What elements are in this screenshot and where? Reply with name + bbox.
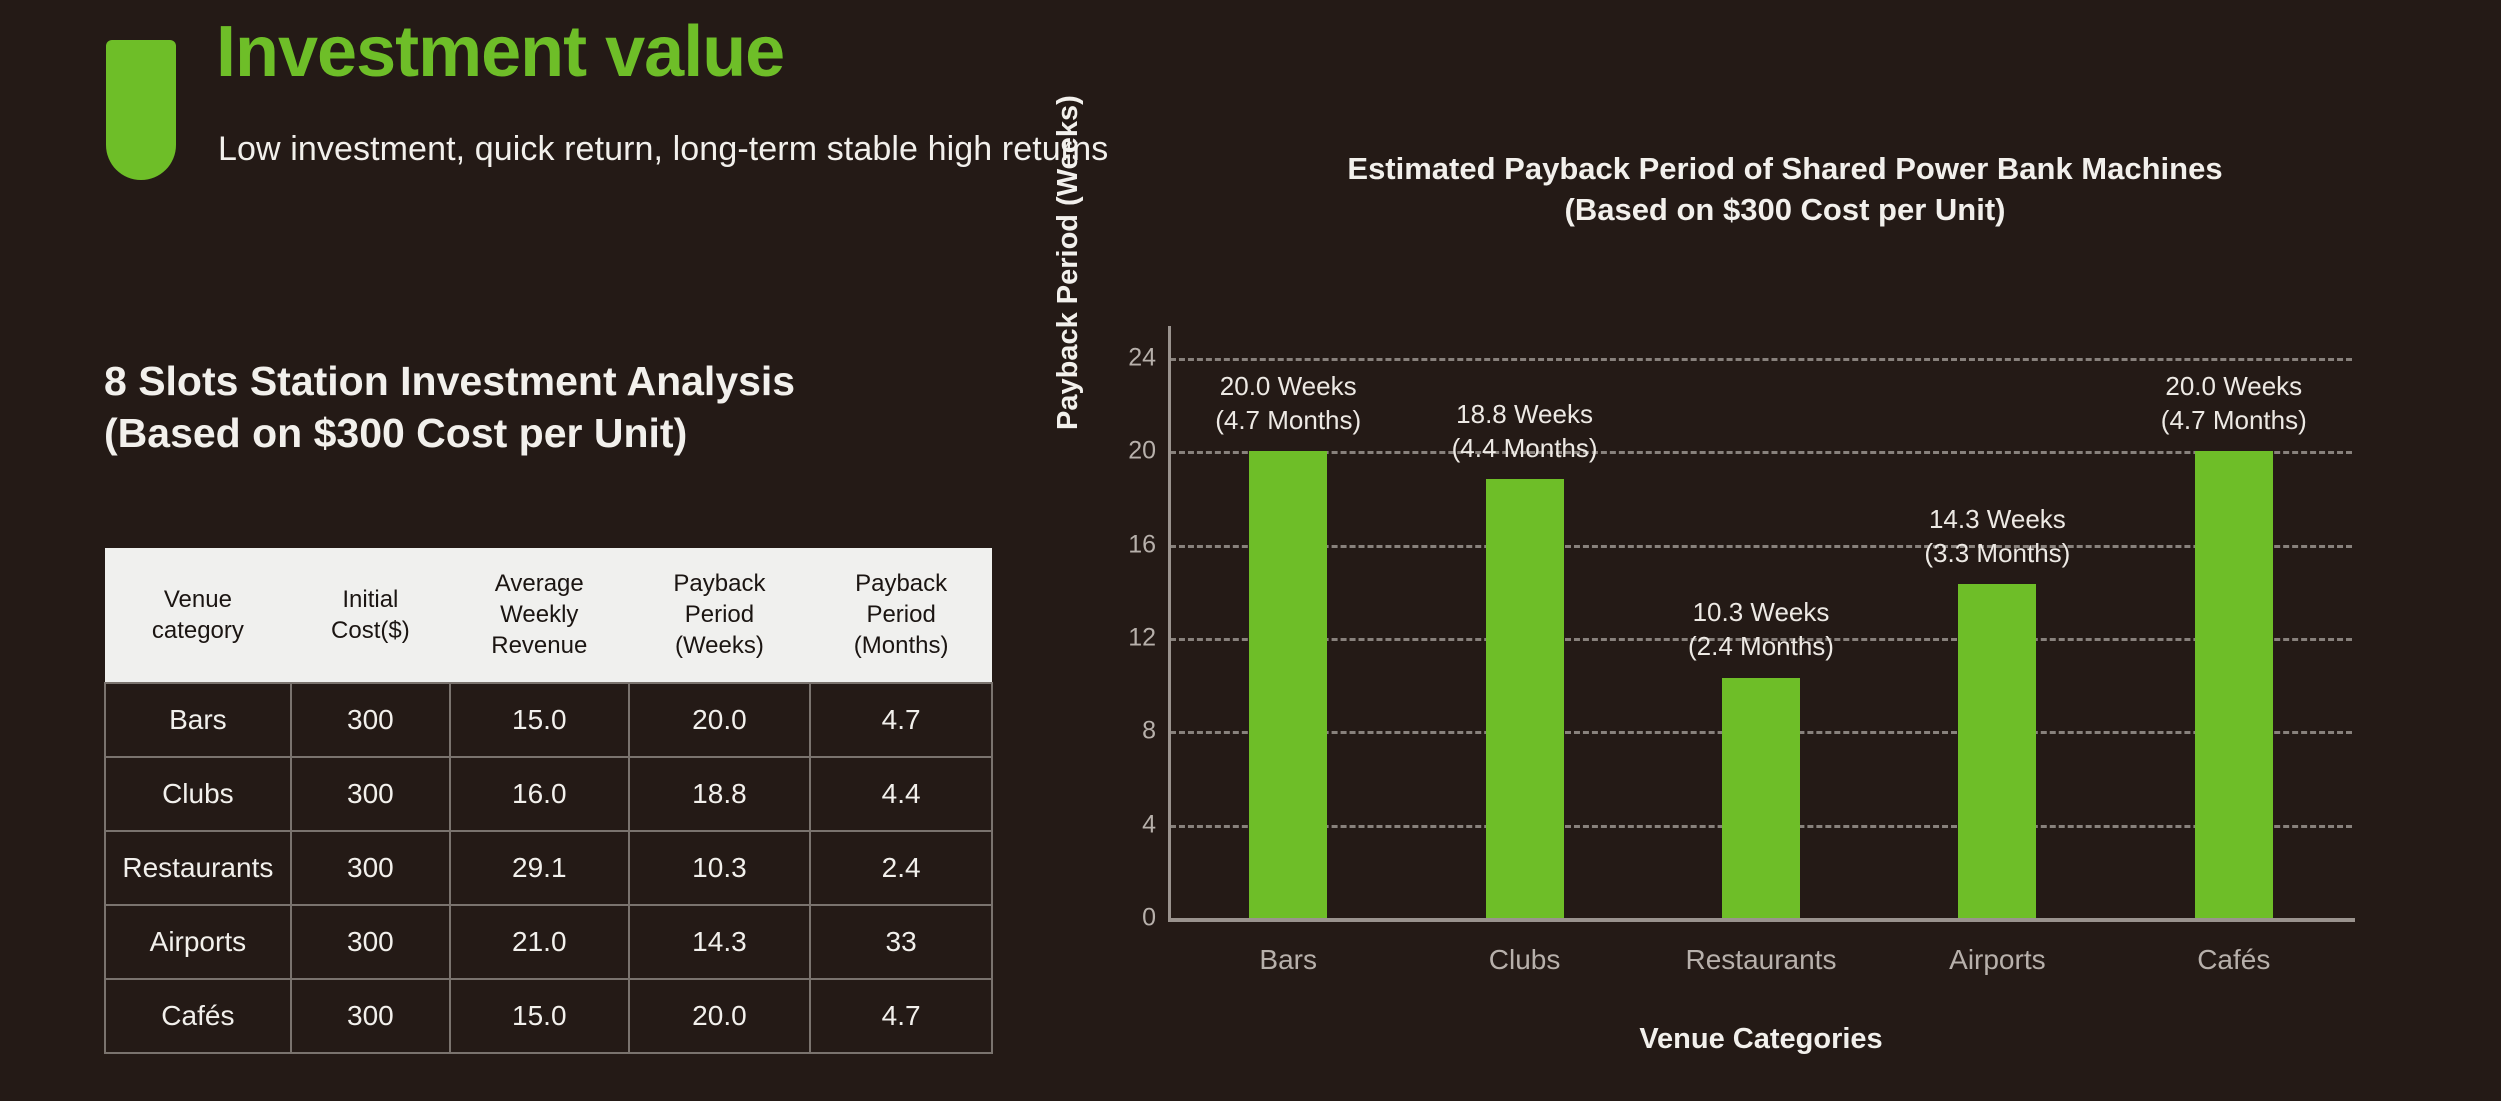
- y-axis-title: Payback Period (Weeks): [1052, 95, 1085, 430]
- table-body: Bars 300 15.0 20.0 4.7 Clubs 300 16.0 18…: [105, 683, 992, 1053]
- bar-group: 18.8 Weeks(4.4 Months)Clubs: [1406, 358, 1642, 918]
- x-axis-title: Venue Categories: [1170, 1023, 2352, 1056]
- cell-payback-weeks: 10.3: [629, 831, 811, 905]
- cell-initial-cost: 300: [291, 831, 450, 905]
- table-row: Cafés 300 15.0 20.0 4.7: [105, 979, 992, 1053]
- table-row: Clubs 300 16.0 18.8 4.4: [105, 757, 992, 831]
- cell-payback-months: 4.7: [810, 683, 992, 757]
- column-header-venue-category: Venue category: [105, 548, 291, 683]
- bar-weeks-label: 20.0 Weeks: [1215, 369, 1361, 403]
- bar-clubs[interactable]: [1486, 479, 1564, 918]
- cell-venue: Bars: [105, 683, 291, 757]
- bar-months-label: (4.7 Months): [1215, 403, 1361, 437]
- cell-venue: Restaurants: [105, 831, 291, 905]
- table-heading: 8 Slots Station Investment Analysis (Bas…: [104, 355, 1004, 460]
- bar-months-label: (3.3 Months): [1924, 536, 2070, 570]
- table-heading-line1: 8 Slots Station Investment Analysis: [104, 358, 795, 404]
- bar-group: 20.0 Weeks(4.7 Months)Bars: [1170, 358, 1406, 918]
- column-header-average-weekly-revenue: Average Weekly Revenue: [450, 548, 629, 683]
- infographic-page: Investment value Low investment, quick r…: [0, 0, 2501, 1101]
- header-line: Payback: [673, 570, 765, 597]
- bar-cafés[interactable]: [2195, 451, 2273, 918]
- bar-group: 10.3 Weeks(2.4 Months)Restaurants: [1643, 358, 1879, 918]
- cell-payback-weeks: 14.3: [629, 905, 811, 979]
- plot-area: 04812162024 20.0 Weeks(4.7 Months)Bars18…: [1170, 358, 2352, 918]
- bar-value-label: 20.0 Weeks(4.7 Months): [2161, 369, 2307, 438]
- bar-group: 14.3 Weeks(3.3 Months)Airports: [1879, 358, 2115, 918]
- cell-venue: Clubs: [105, 757, 291, 831]
- y-tick-label: 8: [1086, 717, 1156, 746]
- cell-payback-months: 4.7: [810, 979, 992, 1053]
- y-tick-label: 0: [1086, 904, 1156, 933]
- table-header-row: Venue category Initial Cost($) Average W…: [105, 548, 992, 683]
- cell-initial-cost: 300: [291, 683, 450, 757]
- bar-weeks-label: 18.8 Weeks: [1452, 397, 1598, 431]
- x-tick-label-bars: Bars: [1259, 944, 1317, 976]
- x-tick-label-clubs: Clubs: [1489, 944, 1561, 976]
- rounded-bar-logo-icon: [106, 40, 176, 180]
- table-row: Airports 300 21.0 14.3 33: [105, 905, 992, 979]
- cell-payback-weeks: 20.0: [629, 683, 811, 757]
- cell-weekly-revenue: 15.0: [450, 979, 629, 1053]
- x-axis-line: [1168, 918, 2355, 922]
- cell-initial-cost: 300: [291, 905, 450, 979]
- cell-payback-months: 33: [810, 905, 992, 979]
- x-tick-label-cafés: Cafés: [2197, 944, 2270, 976]
- bar-value-label: 14.3 Weeks(3.3 Months): [1924, 502, 2070, 571]
- y-tick-label: 12: [1086, 624, 1156, 653]
- cell-weekly-revenue: 15.0: [450, 683, 629, 757]
- y-tick-label: 20: [1086, 437, 1156, 466]
- chart-panel: Estimated Payback Period of Shared Power…: [1060, 0, 2501, 1101]
- cell-weekly-revenue: 21.0: [450, 905, 629, 979]
- header-line: Period: [866, 601, 935, 628]
- header-line: Average: [495, 570, 584, 597]
- column-header-payback-weeks: Payback Period (Weeks): [629, 548, 811, 683]
- y-tick-label: 4: [1086, 810, 1156, 839]
- y-tick-label: 24: [1086, 344, 1156, 373]
- cell-venue: Airports: [105, 905, 291, 979]
- header-line: Revenue: [491, 632, 587, 659]
- investment-analysis-table: Venue category Initial Cost($) Average W…: [104, 548, 993, 1054]
- cell-venue: Cafés: [105, 979, 291, 1053]
- cell-initial-cost: 300: [291, 979, 450, 1053]
- header-line: (Weeks): [675, 632, 764, 659]
- header-line: Payback: [855, 570, 947, 597]
- bar-value-label: 20.0 Weeks(4.7 Months): [1215, 369, 1361, 438]
- cell-weekly-revenue: 16.0: [450, 757, 629, 831]
- bar-weeks-label: 10.3 Weeks: [1688, 595, 1834, 629]
- table-row: Bars 300 15.0 20.0 4.7: [105, 683, 992, 757]
- header-line: Weekly: [500, 601, 578, 628]
- bar-value-label: 10.3 Weeks(2.4 Months): [1688, 595, 1834, 664]
- column-header-initial-cost: Initial Cost($): [291, 548, 450, 683]
- bar-bars[interactable]: [1249, 451, 1327, 918]
- chart-title: Estimated Payback Period of Shared Power…: [1120, 148, 2450, 230]
- bar-group: 20.0 Weeks(4.7 Months)Cafés: [2116, 358, 2352, 918]
- bar-airports[interactable]: [1958, 584, 2036, 918]
- header-line: Initial: [342, 586, 398, 613]
- bar-months-label: (2.4 Months): [1688, 629, 1834, 663]
- chart-title-line1: Estimated Payback Period of Shared Power…: [1347, 151, 2222, 186]
- header-line: category: [152, 617, 244, 644]
- x-tick-label-restaurants: Restaurants: [1686, 944, 1837, 976]
- header-line: Period: [685, 601, 754, 628]
- cell-payback-weeks: 18.8: [629, 757, 811, 831]
- bar-weeks-label: 20.0 Weeks: [2161, 369, 2307, 403]
- column-header-payback-months: Payback Period (Months): [810, 548, 992, 683]
- table-header: Venue category Initial Cost($) Average W…: [105, 548, 992, 683]
- table-row: Restaurants 300 29.1 10.3 2.4: [105, 831, 992, 905]
- header-line: Cost($): [331, 617, 410, 644]
- bar-months-label: (4.7 Months): [2161, 403, 2307, 437]
- table-panel: 8 Slots Station Investment Analysis (Bas…: [0, 200, 1060, 1101]
- bar-value-label: 18.8 Weeks(4.4 Months): [1452, 397, 1598, 466]
- x-tick-label-airports: Airports: [1949, 944, 2045, 976]
- cell-payback-months: 2.4: [810, 831, 992, 905]
- cell-payback-weeks: 20.0: [629, 979, 811, 1053]
- table-heading-line2: (Based on $300 Cost per Unit): [104, 407, 1004, 459]
- cell-initial-cost: 300: [291, 757, 450, 831]
- page-title: Investment value: [216, 16, 784, 88]
- y-tick-label: 16: [1086, 530, 1156, 559]
- page-subtitle: Low investment, quick return, long-term …: [218, 130, 1108, 169]
- header-line: Venue: [164, 586, 232, 613]
- bar-restaurants[interactable]: [1722, 678, 1800, 918]
- bars-layer: 20.0 Weeks(4.7 Months)Bars18.8 Weeks(4.4…: [1170, 358, 2352, 918]
- cell-payback-months: 4.4: [810, 757, 992, 831]
- bar-months-label: (4.4 Months): [1452, 431, 1598, 465]
- cell-weekly-revenue: 29.1: [450, 831, 629, 905]
- header-line: (Months): [854, 632, 949, 659]
- bar-weeks-label: 14.3 Weeks: [1924, 502, 2070, 536]
- chart-title-line2: (Based on $300 Cost per Unit): [1120, 189, 2450, 230]
